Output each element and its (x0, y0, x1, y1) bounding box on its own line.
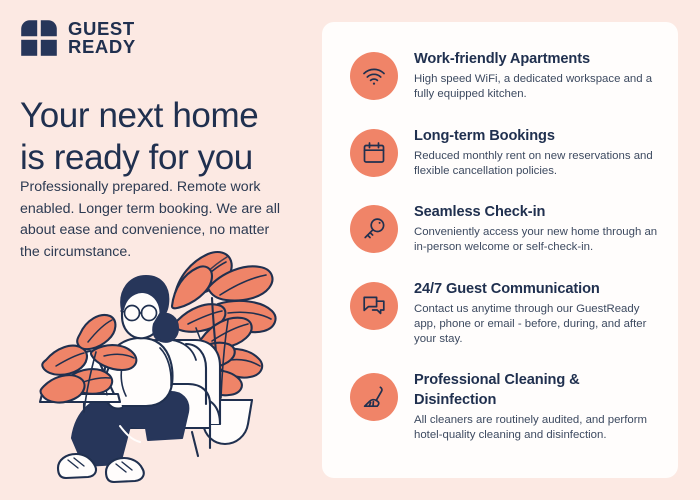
feature-list: Work-friendly Apartments High speed WiFi… (322, 22, 678, 443)
feature-text: Professional Cleaning & Disinfection All… (414, 369, 660, 443)
feature-item: Seamless Check-in Conveniently access yo… (350, 201, 660, 255)
feature-item: Work-friendly Apartments High speed WiFi… (350, 48, 660, 102)
brand-name: GUEST READY (68, 20, 136, 57)
feature-description: All cleaners are routinely audited, and … (414, 413, 660, 443)
broom-icon (350, 373, 398, 421)
wifi-icon (350, 52, 398, 100)
key-icon (350, 205, 398, 253)
feature-text: Seamless Check-in Conveniently access yo… (414, 201, 660, 255)
guestready-logo-icon (20, 19, 58, 57)
feature-item: Professional Cleaning & Disinfection All… (350, 369, 660, 443)
feature-title: Work-friendly Apartments (414, 49, 660, 69)
feature-description: Reduced monthly rent on new reservations… (414, 149, 660, 179)
woman-with-laptop-illustration (22, 228, 312, 490)
feature-text: Long-term Bookings Reduced monthly rent … (414, 125, 660, 179)
feature-item: Long-term Bookings Reduced monthly rent … (350, 125, 660, 179)
feature-title: Seamless Check-in (414, 202, 660, 222)
feature-title: Long-term Bookings (414, 126, 660, 146)
brand-lockup: GUEST READY (20, 19, 136, 57)
calendar-icon (350, 129, 398, 177)
feature-description: Conveniently access your new home throug… (414, 225, 660, 255)
feature-item: 24/7 Guest Communication Contact us anyt… (350, 278, 660, 347)
feature-description: Contact us anytime through our GuestRead… (414, 302, 660, 347)
chat-bubbles-icon (350, 282, 398, 330)
feature-text: Work-friendly Apartments High speed WiFi… (414, 48, 660, 102)
marketing-infographic: GUEST READY Your next home is ready for … (0, 0, 700, 500)
page-title: Your next home is ready for you (20, 95, 310, 179)
feature-text: 24/7 Guest Communication Contact us anyt… (414, 278, 660, 347)
left-column: GUEST READY Your next home is ready for … (0, 0, 322, 500)
feature-title: Professional Cleaning & Disinfection (414, 370, 660, 410)
features-panel: Work-friendly Apartments High speed WiFi… (322, 22, 678, 478)
feature-title: 24/7 Guest Communication (414, 279, 660, 299)
feature-description: High speed WiFi, a dedicated workspace a… (414, 72, 660, 102)
